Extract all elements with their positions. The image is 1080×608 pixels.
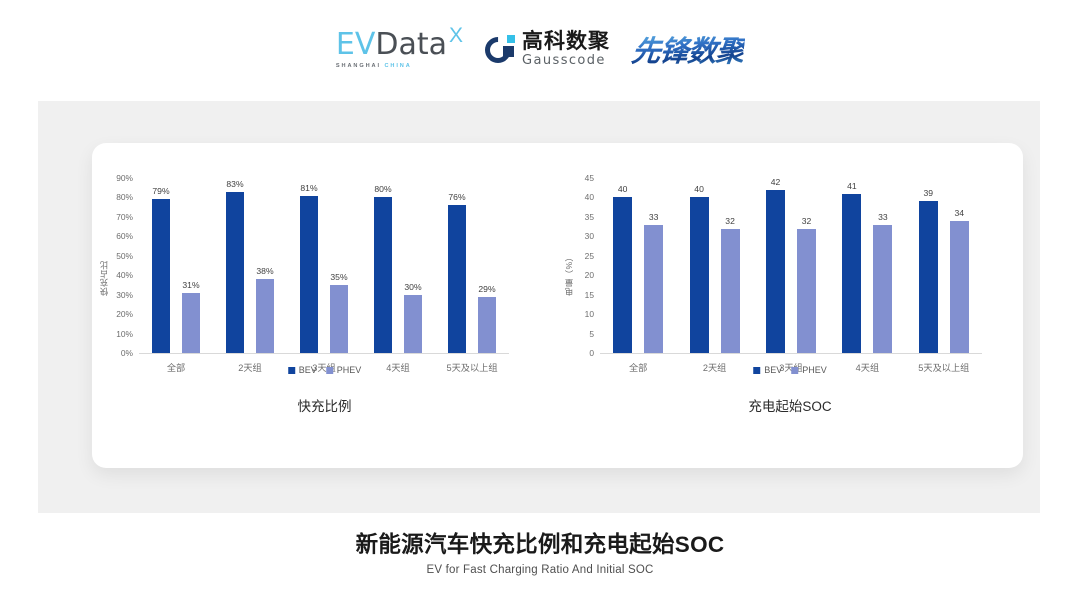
logo-bar: EVData SHANGHAI CHINA X 高科数聚 Gausscode 先…	[0, 18, 1080, 80]
x-axis-baseline	[139, 353, 509, 354]
bar-phev[interactable]: 33	[644, 225, 663, 353]
bar-value-label: 33	[878, 212, 888, 222]
x-axis-tick-label: 全部	[629, 360, 647, 374]
bar-bev[interactable]: 76%	[448, 205, 466, 353]
bar-phev[interactable]: 32	[797, 229, 816, 353]
bar-bev[interactable]: 79%	[152, 199, 170, 353]
x-axis-tick-label: 4天组	[386, 360, 410, 374]
bar-group: 4033	[600, 178, 676, 353]
bar-value-label: 80%	[374, 184, 391, 194]
gausscode-cn-text: 高科数聚	[522, 31, 610, 52]
y-axis-tick-label: 5	[560, 329, 594, 339]
chart-legend: BEVPHEV	[753, 365, 827, 375]
y-axis-tick-label: 30%	[99, 290, 133, 300]
slide-page: EVData SHANGHAI CHINA X 高科数聚 Gausscode 先…	[0, 0, 1080, 608]
y-axis-tick-label: 25	[560, 251, 594, 261]
evdata-china-text: CHINA	[384, 63, 411, 69]
y-axis-tick-label: 60%	[99, 231, 133, 241]
bar-group: 4032	[676, 178, 752, 353]
bar-value-label: 34	[954, 208, 964, 218]
chart-legend: BEVPHEV	[288, 365, 362, 375]
bar-value-label: 76%	[448, 192, 465, 202]
gausscode-en-text: Gausscode	[522, 54, 610, 67]
y-axis-tick-label: 35	[560, 212, 594, 222]
bar-groups: 79%31%83%38%81%35%80%30%76%29%	[139, 178, 509, 353]
x-axis-tick-label: 5天及以上组	[446, 360, 497, 374]
y-axis-tick-label: 80%	[99, 192, 133, 202]
bar-group: 76%29%	[435, 178, 509, 353]
bar-value-label: 30%	[404, 282, 421, 292]
legend-label: BEV	[299, 365, 317, 375]
bar-value-label: 40	[694, 184, 704, 194]
legend-item-phev[interactable]: PHEV	[791, 365, 827, 375]
xianfeng-cn-text: 先锋数聚	[630, 28, 746, 70]
evdata-wordmark: EVData	[336, 30, 447, 60]
bar-group: 4232	[753, 178, 829, 353]
evdata-logo: EVData SHANGHAI CHINA X	[336, 30, 463, 69]
bar-value-label: 79%	[152, 186, 169, 196]
y-axis-tick-label: 10	[560, 309, 594, 319]
bar-bev[interactable]: 83%	[226, 192, 244, 353]
chart-caption: 充电起始SOC	[557, 395, 1023, 415]
bar-value-label: 32	[802, 216, 812, 226]
legend-swatch-icon	[288, 367, 295, 374]
bar-bev[interactable]: 40	[613, 197, 632, 353]
bar-bev[interactable]: 80%	[374, 197, 392, 353]
x-axis-tick-label: 2天组	[703, 360, 727, 374]
bar-group: 79%31%	[139, 178, 213, 353]
legend-swatch-icon	[791, 367, 798, 374]
legend-item-bev[interactable]: BEV	[288, 365, 317, 375]
legend-label: BEV	[764, 365, 782, 375]
bar-bev[interactable]: 81%	[300, 196, 318, 354]
gausscode-logo: 高科数聚 Gausscode	[485, 31, 610, 67]
evdata-x-icon: X	[449, 25, 463, 46]
legend-item-phev[interactable]: PHEV	[326, 365, 362, 375]
gausscode-circle-icon	[485, 34, 515, 64]
bar-bev[interactable]: 40	[690, 197, 709, 353]
bar-value-label: 41	[847, 181, 857, 191]
x-axis-tick-label: 5天及以上组	[918, 360, 969, 374]
xianfeng-logo: 先锋数聚	[632, 28, 744, 70]
bar-bev[interactable]: 39	[919, 201, 938, 353]
x-axis-baseline	[600, 353, 982, 354]
bar-value-label: 39	[923, 188, 933, 198]
charts-card: 快充占比0%10%20%30%40%50%60%70%80%90%全部2天组3天…	[92, 143, 1023, 468]
bar-value-label: 29%	[478, 284, 495, 294]
bar-value-label: 40	[618, 184, 628, 194]
bar-group: 80%30%	[361, 178, 435, 353]
y-axis-tick-label: 40	[560, 192, 594, 202]
bar-group: 3934	[906, 178, 982, 353]
page-subtitle: EV for Fast Charging Ratio And Initial S…	[0, 564, 1080, 576]
y-axis-tick-label: 15	[560, 290, 594, 300]
bar-group: 4133	[829, 178, 905, 353]
bar-phev[interactable]: 30%	[404, 295, 422, 353]
bar-value-label: 33	[649, 212, 659, 222]
y-axis-tick-label: 50%	[99, 251, 133, 261]
legend-label: PHEV	[337, 365, 362, 375]
footer: 新能源汽车快充比例和充电起始SOC EV for Fast Charging R…	[0, 527, 1080, 576]
x-axis-tick-label: 4天组	[856, 360, 880, 374]
bar-value-label: 81%	[300, 183, 317, 193]
y-axis-tick-label: 20%	[99, 309, 133, 319]
bar-bev[interactable]: 42	[766, 190, 785, 353]
y-axis-tick-label: 0%	[99, 348, 133, 358]
legend-item-bev[interactable]: BEV	[753, 365, 782, 375]
bar-group: 81%35%	[287, 178, 361, 353]
y-axis-title: 电量（%）	[563, 236, 575, 296]
evdata-tagline: SHANGHAI CHINA	[336, 63, 447, 69]
bar-phev[interactable]: 33	[873, 225, 892, 353]
bar-phev[interactable]: 38%	[256, 279, 274, 353]
evdata-data-text: Data	[375, 27, 447, 62]
y-axis-tick-label: 10%	[99, 329, 133, 339]
bar-phev[interactable]: 31%	[182, 293, 200, 353]
y-axis-title: 快充占比	[98, 236, 110, 296]
legend-swatch-icon	[753, 367, 760, 374]
evdata-shanghai-text: SHANGHAI	[336, 63, 381, 69]
charts-container: 快充占比0%10%20%30%40%50%60%70%80%90%全部2天组3天…	[92, 143, 1023, 468]
y-axis-tick-label: 30	[560, 231, 594, 241]
x-axis-tick-label: 2天组	[238, 360, 262, 374]
bar-group: 83%38%	[213, 178, 287, 353]
plot-area: 电量（%）051015202530354045全部2天组3天组4天组5天及以上组…	[600, 178, 982, 353]
legend-swatch-icon	[326, 367, 333, 374]
evdata-ev-text: EV	[336, 27, 375, 62]
bar-value-label: 35%	[330, 272, 347, 282]
bar-value-label: 31%	[182, 280, 199, 290]
bar-value-label: 32	[725, 216, 735, 226]
chart-caption: 快充比例	[92, 395, 557, 415]
chart-fast-charging-ratio: 快充占比0%10%20%30%40%50%60%70%80%90%全部2天组3天…	[92, 143, 557, 468]
x-axis-tick-label: 全部	[167, 360, 185, 374]
y-axis-tick-label: 40%	[99, 270, 133, 280]
chart-initial-soc: 电量（%）051015202530354045全部2天组3天组4天组5天及以上组…	[557, 143, 1023, 468]
y-axis-tick-label: 20	[560, 270, 594, 280]
bar-phev[interactable]: 32	[721, 229, 740, 353]
page-title: 新能源汽车快充比例和充电起始SOC	[0, 527, 1080, 559]
bar-value-label: 42	[771, 177, 781, 187]
y-axis-tick-label: 70%	[99, 212, 133, 222]
y-axis-tick-label: 45	[560, 173, 594, 183]
bar-phev[interactable]: 35%	[330, 285, 348, 353]
y-axis-tick-label: 90%	[99, 173, 133, 183]
bar-value-label: 38%	[256, 266, 273, 276]
bar-groups: 40334032423241333934	[600, 178, 982, 353]
bar-bev[interactable]: 41	[842, 194, 861, 353]
y-axis-tick-label: 0	[560, 348, 594, 358]
bar-phev[interactable]: 29%	[478, 297, 496, 353]
plot-area: 快充占比0%10%20%30%40%50%60%70%80%90%全部2天组3天…	[139, 178, 509, 353]
bar-phev[interactable]: 34	[950, 221, 969, 353]
bar-value-label: 83%	[226, 179, 243, 189]
legend-label: PHEV	[802, 365, 827, 375]
